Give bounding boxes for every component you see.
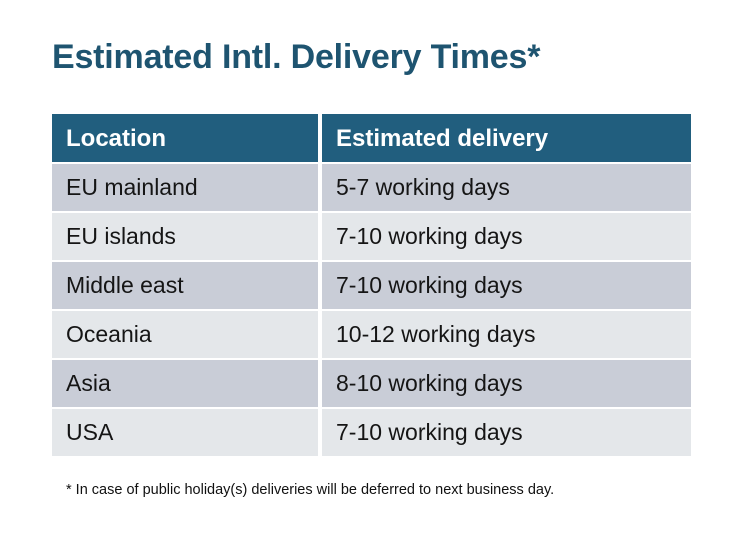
cell-location: Asia [52, 360, 318, 407]
page-title: Estimated Intl. Delivery Times* [52, 36, 540, 78]
cell-location: USA [52, 409, 318, 456]
cell-location: Middle east [52, 262, 318, 309]
column-header-estimated-delivery: Estimated delivery [322, 114, 691, 162]
column-header-location: Location [52, 114, 318, 162]
cell-delivery: 7-10 working days [322, 262, 691, 309]
table-row: USA 7-10 working days [52, 409, 691, 456]
table-row: Middle east 7-10 working days [52, 262, 691, 309]
cell-delivery: 10-12 working days [322, 311, 691, 358]
table-row: Asia 8-10 working days [52, 360, 691, 407]
footnote-text: * In case of public holiday(s) deliverie… [66, 480, 554, 500]
delivery-times-page: Estimated Intl. Delivery Times* Location… [0, 0, 745, 536]
table-row: Oceania 10-12 working days [52, 311, 691, 358]
cell-delivery: 8-10 working days [322, 360, 691, 407]
cell-delivery: 5-7 working days [322, 164, 691, 211]
cell-location: EU islands [52, 213, 318, 260]
cell-location: Oceania [52, 311, 318, 358]
table-row: EU islands 7-10 working days [52, 213, 691, 260]
table-header-row: Location Estimated delivery [52, 114, 691, 162]
delivery-times-table: Location Estimated delivery EU mainland … [52, 114, 691, 458]
cell-delivery: 7-10 working days [322, 213, 691, 260]
cell-delivery: 7-10 working days [322, 409, 691, 456]
table-row: EU mainland 5-7 working days [52, 164, 691, 211]
cell-location: EU mainland [52, 164, 318, 211]
